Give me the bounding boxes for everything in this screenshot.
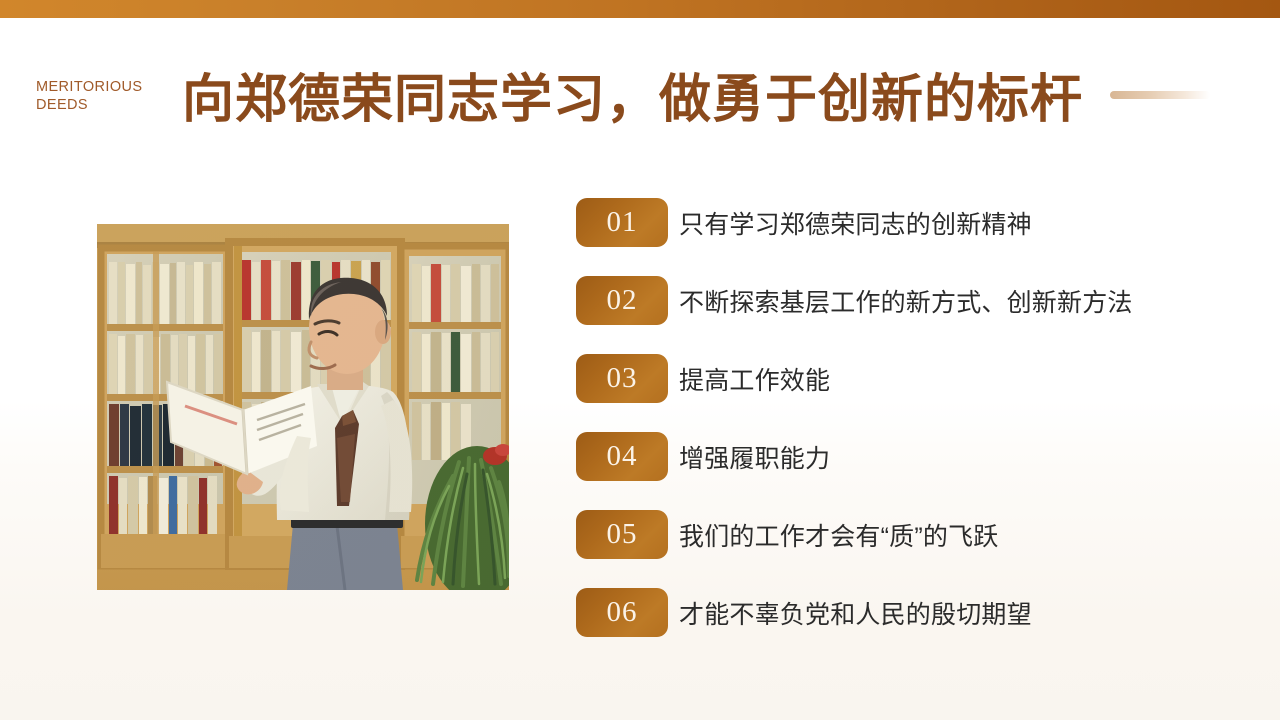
list-item-number-badge: 01: [576, 198, 668, 247]
list-item-number-badge: 04: [576, 432, 668, 481]
photo-illustration: [97, 224, 509, 590]
list-item[interactable]: 02 不断探索基层工作的新方式、创新新方法: [576, 276, 1236, 354]
presentation-slide: MERITORIOUS DEEDS 向郑德荣同志学习，做勇于创新的标杆: [0, 0, 1280, 720]
list-item-label: 不断探索基层工作的新方式、创新新方法: [679, 276, 1133, 325]
title-decorative-rule: [1110, 91, 1210, 99]
list-item-label: 我们的工作才会有“质”的飞跃: [679, 510, 998, 559]
list-item-label: 增强履职能力: [679, 432, 830, 481]
list-item[interactable]: 04 增强履职能力: [576, 432, 1236, 510]
numbered-points-list: 01 只有学习郑德荣同志的创新精神 02 不断探索基层工作的新方式、创新新方法 …: [576, 198, 1236, 666]
portrait-photo: [97, 224, 509, 590]
list-item-label: 才能不辜负党和人民的殷切期望: [679, 588, 1032, 637]
list-item[interactable]: 05 我们的工作才会有“质”的飞跃: [576, 510, 1236, 588]
list-item-label: 只有学习郑德荣同志的创新精神: [679, 198, 1032, 247]
eyebrow-label: MERITORIOUS DEEDS: [36, 78, 186, 114]
list-item-number-badge: 06: [576, 588, 668, 637]
list-item[interactable]: 03 提高工作效能: [576, 354, 1236, 432]
list-item-number-badge: 03: [576, 354, 668, 403]
list-item[interactable]: 06 才能不辜负党和人民的殷切期望: [576, 588, 1236, 666]
list-item-label: 提高工作效能: [679, 354, 830, 403]
list-item[interactable]: 01 只有学习郑德荣同志的创新精神: [576, 198, 1236, 276]
page-title: 向郑德荣同志学习，做勇于创新的标杆: [182, 60, 1083, 128]
list-item-number-badge: 02: [576, 276, 668, 325]
list-item-number-badge: 05: [576, 510, 668, 559]
top-accent-bar: [0, 0, 1280, 18]
